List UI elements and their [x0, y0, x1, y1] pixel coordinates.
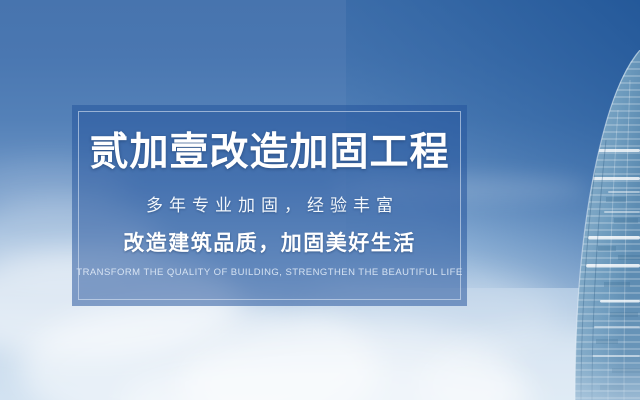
- banner-english-tagline: TRANSFORM THE QUALITY OF BUILDING, STREN…: [76, 267, 462, 278]
- headline-panel: 贰加壹改造加固工程 多年专业加固，经验丰富 改造建筑品质，加固美好生活 TRAN…: [72, 105, 467, 306]
- banner-subtitle: 多年专业加固，经验丰富: [140, 191, 399, 216]
- banner-slogan: 改造建筑品质，加固美好生活: [123, 227, 416, 257]
- skyscraper-icon: [548, 50, 640, 400]
- banner-stage: 贰加壹改造加固工程 多年专业加固，经验丰富 改造建筑品质，加固美好生活 TRAN…: [0, 0, 640, 400]
- page-title: 贰加壹改造加固工程: [89, 132, 449, 174]
- panel-content: 贰加壹改造加固工程 多年专业加固，经验丰富 改造建筑品质，加固美好生活 TRAN…: [72, 105, 467, 306]
